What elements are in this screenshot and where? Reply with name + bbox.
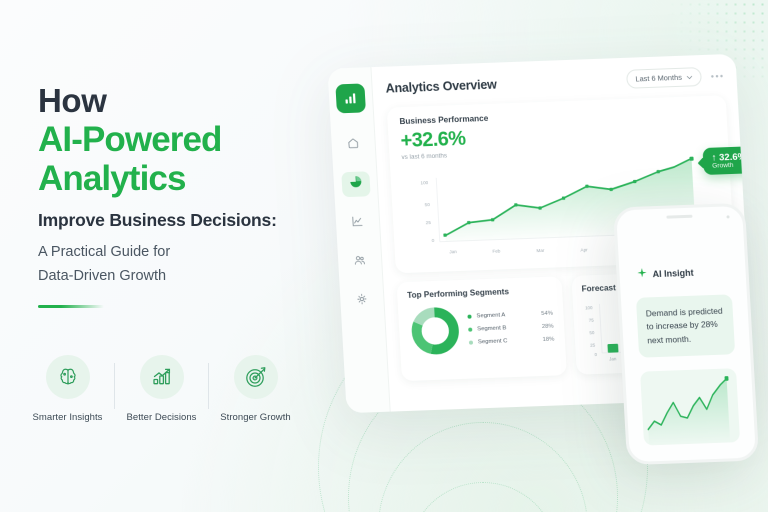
svg-text:75: 75 (588, 317, 594, 322)
svg-text:50: 50 (589, 330, 595, 335)
top-segments-card: Top Performing Segments Segment A (396, 276, 566, 381)
phone-trend-chart (640, 368, 740, 445)
svg-text:25: 25 (589, 342, 595, 347)
more-options-icon[interactable]: ••• (711, 71, 725, 81)
pie-chart-icon (348, 175, 363, 194)
topbar-actions: Last 6 Months ••• (626, 66, 725, 89)
ai-insight-header: AI Insight (624, 224, 739, 284)
ai-insight-text: Demand is predicted to increase by 28% n… (636, 294, 735, 358)
svg-text:0: 0 (594, 352, 597, 357)
svg-text:0: 0 (432, 238, 435, 243)
svg-text:Mar: Mar (536, 248, 545, 253)
svg-text:25: 25 (426, 220, 432, 225)
phone-screen: AI Insight Demand is predicted to increa… (624, 224, 748, 446)
home-icon (346, 136, 360, 154)
sidebar-item-home[interactable] (339, 132, 368, 158)
legend-item: Segment C 18% (469, 337, 555, 346)
chevron-down-icon (687, 72, 693, 81)
legend-dot-icon (468, 328, 472, 332)
logo-bar-chart-icon[interactable] (335, 83, 366, 113)
growth-badge: ↑ 32.6% Growth (702, 146, 754, 175)
ai-insight-label: AI Insight (652, 268, 694, 279)
legend-item: Segment A 54% (467, 311, 553, 320)
phone-mockup: AI Insight Demand is predicted to increa… (613, 203, 759, 465)
sidebar-item-settings[interactable] (347, 288, 376, 314)
legend-label: Segment B (477, 325, 506, 332)
legend-dot-icon (467, 315, 471, 319)
segments-legend: Segment A 54% Segment B 28% (467, 311, 554, 346)
legend-value: 54% (541, 311, 553, 317)
dashboard-topbar: Analytics Overview Last 6 Months ••• (385, 66, 725, 97)
svg-text:Apr: Apr (580, 247, 588, 252)
device-mockup-scene: Analytics Overview Last 6 Months ••• Bus… (0, 0, 768, 512)
svg-text:Feb: Feb (492, 248, 501, 253)
phone-camera (726, 215, 729, 218)
sparkle-icon (636, 265, 648, 283)
legend-dot-icon (469, 341, 473, 345)
gear-icon (355, 292, 369, 310)
svg-text:Jan: Jan (609, 356, 617, 361)
sidebar-item-reports[interactable] (343, 210, 372, 236)
sidebar-item-users[interactable] (345, 249, 374, 275)
segments-donut-chart (408, 304, 463, 358)
date-range-label: Last 6 Months (635, 73, 682, 84)
users-icon (353, 253, 367, 271)
legend-value: 18% (542, 337, 554, 343)
legend-item: Segment B 28% (468, 324, 554, 333)
date-range-select[interactable]: Last 6 Months (626, 67, 702, 89)
svg-text:100: 100 (585, 305, 593, 310)
legend-label: Segment A (476, 312, 505, 319)
legend-value: 28% (542, 324, 554, 330)
sidebar-item-analytics[interactable] (341, 171, 370, 197)
svg-text:Jan: Jan (449, 249, 457, 254)
page-title: Analytics Overview (385, 77, 497, 95)
line-chart-icon (351, 214, 365, 232)
card-title: Top Performing Segments (407, 286, 552, 300)
growth-badge-label: Growth (712, 161, 747, 169)
svg-text:50: 50 (425, 202, 431, 207)
phone-speaker (666, 215, 692, 219)
legend-label: Segment C (478, 338, 508, 345)
svg-text:100: 100 (420, 180, 428, 185)
